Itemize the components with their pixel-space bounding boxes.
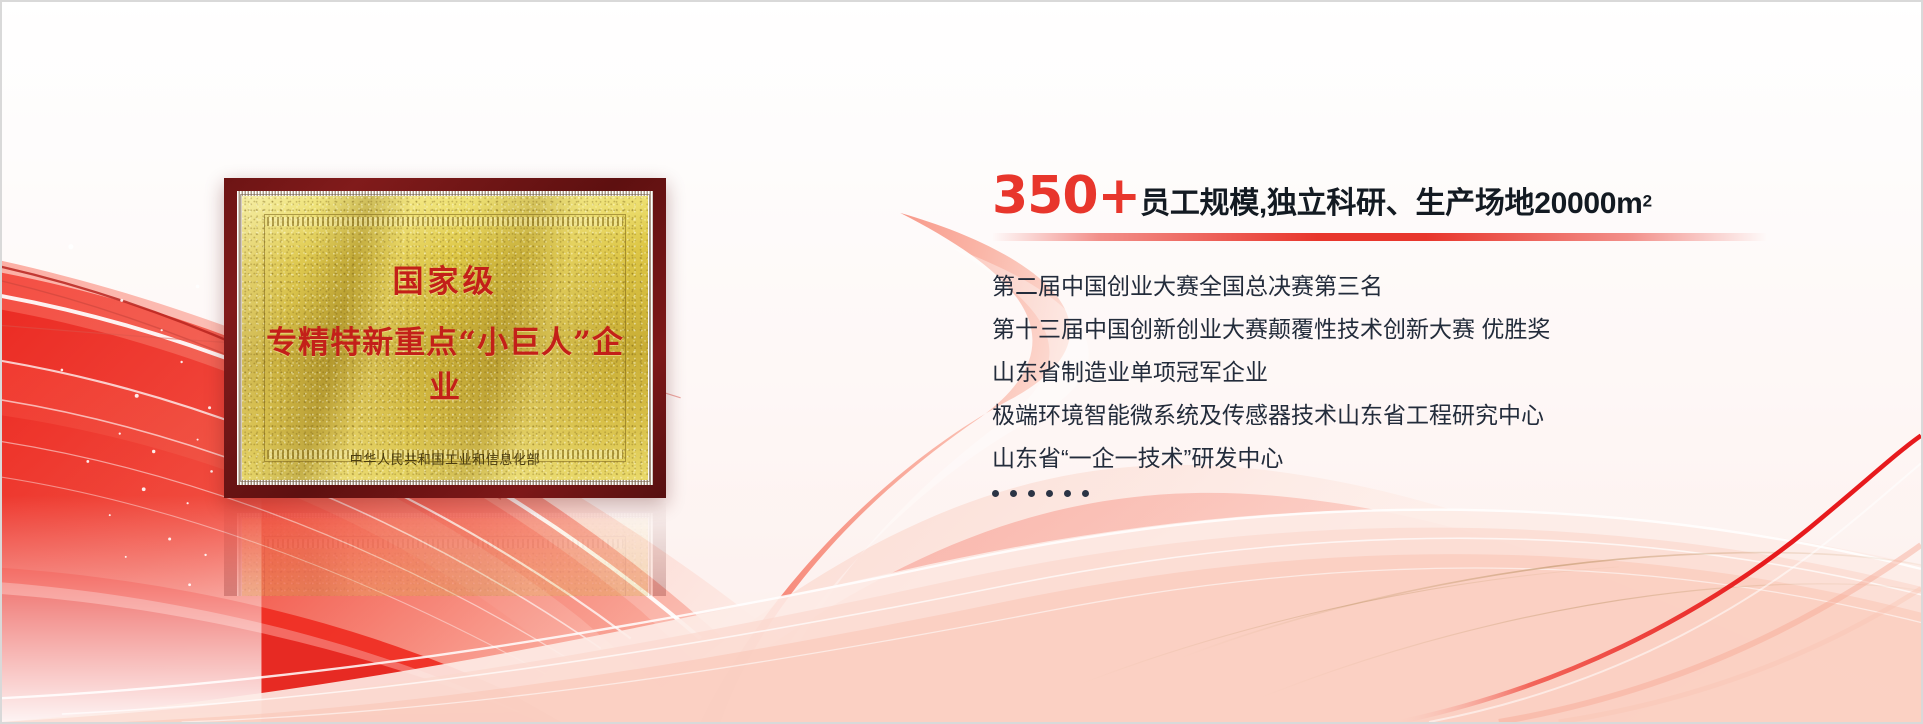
achievement-list: 第二届中国创业大赛全国总决赛第三名 第十三届中国创新创业大赛颠覆性技术创新大赛 … (992, 275, 1822, 497)
plaque-issuer: 中华人民共和国工业和信息化部 (252, 449, 638, 468)
ellipsis-dot (1064, 490, 1071, 497)
headline-text: 员工规模,独立科研、生产场地20000m (1140, 187, 1642, 220)
ellipsis-dot (992, 490, 999, 497)
more-items-ellipsis (992, 490, 1822, 497)
plaque-reflection (224, 500, 666, 596)
plaque-title-line2: 专精特新重点“小巨人”企业 (252, 317, 638, 407)
list-item: 第十三届中国创新创业大赛颠覆性技术创新大赛 优胜奖 (992, 318, 1822, 341)
plaque-silver-frame: 国家级 专精特新重点“小巨人”企业 中华人民共和国工业和信息化部 2024年12… (237, 191, 653, 485)
sparkle-dots (61, 244, 213, 586)
headline-underline-bar (992, 233, 1767, 241)
ellipsis-dot (1028, 490, 1035, 497)
headline-superscript: 2 (1643, 192, 1652, 211)
list-item: 山东省“一企一技术”研发中心 (992, 447, 1822, 470)
promo-banner: 国家级 专精特新重点“小巨人”企业 中华人民共和国工业和信息化部 2024年12… (0, 0, 1923, 724)
ellipsis-dot (1046, 490, 1053, 497)
headline: 350+员工规模,独立科研、生产场地20000m2 (992, 170, 1822, 222)
plaque-title-line1: 国家级 (252, 256, 638, 301)
ellipsis-dot (1010, 490, 1017, 497)
list-item: 第二届中国创业大赛全国总决赛第三名 (992, 275, 1822, 298)
plaque-gold-plate: 国家级 专精特新重点“小巨人”企业 中华人民共和国工业和信息化部 2024年12… (242, 196, 648, 480)
plaque-date: 2024年12月 (252, 479, 638, 480)
content-column: 350+员工规模,独立科研、生产场地20000m2 第二届中国创业大赛全国总决赛… (992, 170, 1822, 497)
list-item: 极端环境智能微系统及传感器技术山东省工程研究中心 (992, 404, 1822, 427)
headline-number: 350+ (992, 166, 1140, 226)
award-plaque: 国家级 专精特新重点“小巨人”企业 中华人民共和国工业和信息化部 2024年12… (224, 178, 666, 498)
list-item: 山东省制造业单项冠军企业 (992, 361, 1822, 384)
ellipsis-dot (1082, 490, 1089, 497)
